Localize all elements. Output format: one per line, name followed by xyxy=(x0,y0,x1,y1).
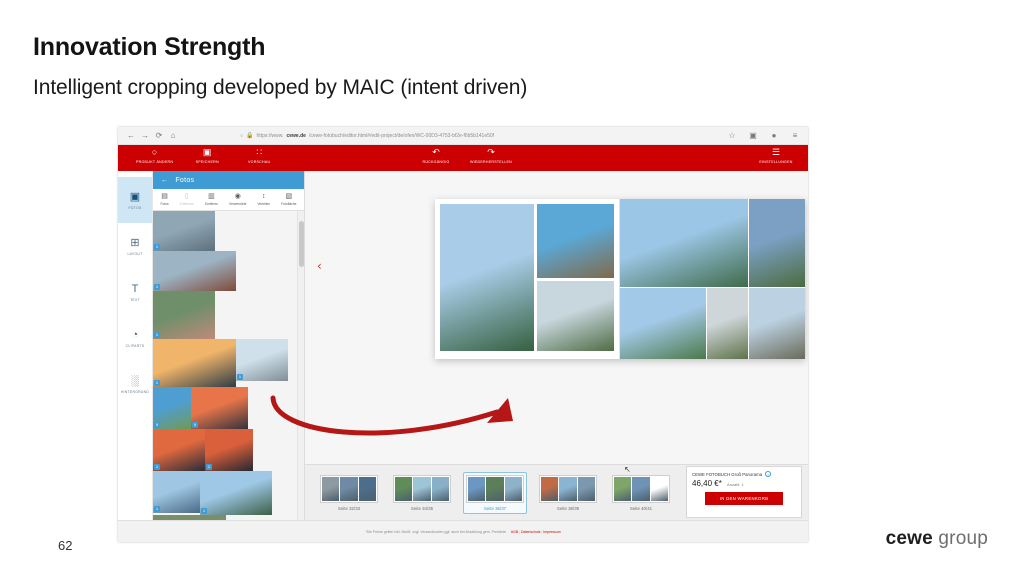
rail-item-text[interactable]: TTEXT xyxy=(118,269,152,315)
page-thumbnail-card[interactable]: Seite 32/33 xyxy=(317,472,381,514)
product-name-row: CEWE FOTOBUCH Groß Panorama i xyxy=(692,471,796,477)
book-photo-ibex-rock[interactable] xyxy=(749,288,805,359)
page-subtitle: Intelligent cropping developed by MAIC (… xyxy=(33,76,527,100)
book-photo-donkey-lake[interactable] xyxy=(537,204,614,278)
profile-icon[interactable]: ● xyxy=(767,132,781,140)
photo-use-badge: 9 xyxy=(154,422,160,428)
bookmark-star-icon[interactable]: ☆ xyxy=(725,132,739,140)
chrome-right-actions: ☆ ▣ ● ≡ xyxy=(725,132,802,140)
address-bar[interactable]: ○ 🔒 https://www.cewe.de/cewe-fotobuch/ed… xyxy=(240,130,719,142)
toolbar-label-save: Speichern xyxy=(196,160,219,164)
page-thumbnail-card[interactable]: Seite 38/39 xyxy=(536,472,600,514)
photo-tab-label-fotos: Fotos xyxy=(160,202,168,206)
rail-label-cliparts: CLIPARTS xyxy=(126,344,145,348)
photo-use-badge: 1 xyxy=(154,464,160,470)
verteilen-icon: ↕ xyxy=(262,193,266,201)
footnote-link-impressum[interactable]: Impressum xyxy=(543,530,560,534)
photo-tab-label-verwendete: Verwendete xyxy=(229,202,246,206)
page-thumbnail-label: Seite 34/35 xyxy=(393,506,451,511)
mouse-cursor: ↖ xyxy=(624,465,631,474)
photo-thumbnail[interactable]: 1 xyxy=(153,429,205,471)
page-thumbnail-label: Seite 36/37 xyxy=(466,506,524,511)
page-thumbnail-card[interactable]: Seite 36/37 xyxy=(463,472,527,514)
text-icon: T xyxy=(132,283,139,295)
layout-icon: ⊞ xyxy=(130,237,139,249)
shield-icon: ○ xyxy=(240,133,243,139)
page-thumbnail-cell xyxy=(322,477,339,501)
book-spread[interactable] xyxy=(435,199,805,359)
footnote-text: *Die Preise gelten inkl. MwSt. zzgl. Ver… xyxy=(365,530,506,534)
page-thumbnail-cell xyxy=(340,477,357,501)
photo-panel-header: ← Fotos xyxy=(153,171,304,189)
page-thumbnail-cell xyxy=(651,477,668,501)
photo-tab-verteilen[interactable]: ↕Verteilen xyxy=(257,193,270,206)
browser-menu-icon[interactable]: ≡ xyxy=(788,132,802,140)
url-prefix: https://www. xyxy=(257,133,284,139)
book-photo-panorama-valley[interactable] xyxy=(620,199,748,287)
rail-label-hintergrund: HINTERGRUND xyxy=(121,390,149,394)
fotos-icon: ▣ xyxy=(130,191,140,203)
photo-tab-entfernen: ▯Entfernen xyxy=(180,193,194,206)
photo-thumbnail[interactable]: 1 xyxy=(153,471,200,513)
editor-body: ▣FOTOS⊞LAYOUTTTEXT◔CLIPARTS░HINTERGRUND … xyxy=(118,171,808,542)
entfernen-icon: ▯ xyxy=(185,193,189,201)
book-photo-mountain-valley[interactable] xyxy=(440,204,534,351)
toolbar-right-group: ☰Einstellungen xyxy=(758,147,794,164)
product-quantity: Anzahl: 1 xyxy=(727,482,744,487)
rail-item-hintergrund[interactable]: ░HINTERGRUND xyxy=(118,361,152,407)
info-icon[interactable]: i xyxy=(765,471,771,477)
toolbar-button-preview[interactable]: ∷Vorschau xyxy=(241,147,277,164)
toolbar-button-save[interactable]: ▣Speichern xyxy=(189,147,225,164)
toolbar-label-preview: Vorschau xyxy=(248,160,270,164)
page-thumbnail-cell xyxy=(559,477,576,501)
photo-thumbnail[interactable]: 1 xyxy=(153,211,215,251)
redo-icon: ↷ xyxy=(487,147,495,158)
photo-thumbnail[interactable]: 1 xyxy=(205,429,253,471)
url-suffix: /cewe-fotobuch/editor.html#/edit-project… xyxy=(309,133,494,139)
photo-tab-sortieren[interactable]: ▥Sortieren xyxy=(205,193,218,206)
page-title: Innovation Strength xyxy=(33,33,265,62)
undo-icon: ↶ xyxy=(432,147,440,158)
product-price: 46,40 €* xyxy=(692,479,722,488)
verwendete-icon: ◉ xyxy=(235,193,241,201)
photo-use-badge: 9 xyxy=(192,422,198,428)
rail-label-text: TEXT xyxy=(130,298,140,302)
forward-icon[interactable]: → xyxy=(138,132,152,140)
page-thumbnail-card[interactable]: Seite 40/41 xyxy=(609,472,673,514)
rail-item-layout[interactable]: ⊞LAYOUT xyxy=(118,223,152,269)
photo-thumbnail[interactable]: 1 xyxy=(153,291,215,339)
rail-label-layout: LAYOUT xyxy=(127,252,142,256)
toolbar-button-change-product[interactable]: ○Produkt ändern xyxy=(136,147,173,164)
product-summary-box: CEWE FOTOBUCH Groß Panorama i 46,40 €* A… xyxy=(686,466,802,518)
logo-bold-text: cewe xyxy=(886,528,933,549)
product-name: CEWE FOTOBUCH Groß Panorama xyxy=(692,472,762,477)
sortieren-icon: ▥ xyxy=(208,193,215,201)
page-thumbnail-cell xyxy=(505,477,522,501)
toolbar-middle-group: ↶Rückgängig↷Wiederherstellen xyxy=(418,147,512,164)
page-thumbnail-label: Seite 38/39 xyxy=(539,506,597,511)
page-thumbnail-cell xyxy=(432,477,449,501)
photo-use-badge: 1 xyxy=(201,508,207,514)
photo-panel-tabs: ▤Fotos▯Entfernen▥Sortieren◉Verwendete↕Ve… xyxy=(153,189,304,211)
cliparts-icon: ◔ xyxy=(132,329,139,341)
page-thumbnail-cell xyxy=(395,477,412,501)
back-icon[interactable]: ← xyxy=(124,132,138,140)
fotos-icon: ▤ xyxy=(161,193,168,201)
preview-icon: ∷ xyxy=(256,147,262,158)
photo-tab-label-sortieren: Sortieren xyxy=(205,202,218,206)
slide-number: 62 xyxy=(58,538,72,553)
photo-thumbnail[interactable]: 1 xyxy=(200,471,272,515)
photo-thumbnail[interactable]: 1 xyxy=(236,339,288,381)
photo-use-badge: 1 xyxy=(154,332,160,338)
toolbar-label-redo: Wiederherstellen xyxy=(470,160,512,164)
toolbar-label-change-product: Produkt ändern xyxy=(136,160,173,164)
url-domain: cewe.de xyxy=(286,133,305,139)
rail-item-fotos[interactable]: ▣FOTOS xyxy=(118,177,152,223)
book-photo-chalet-meadow[interactable] xyxy=(537,281,614,351)
toolbar-left-group: ○Produkt ändern▣Speichern∷Vorschau xyxy=(136,147,277,164)
book-page-right[interactable] xyxy=(620,199,805,359)
photo-tab-label-verteilen: Verteilen xyxy=(257,202,270,206)
book-canvas: ‹ › xyxy=(305,171,808,464)
photo-use-badge: 1 xyxy=(154,506,160,512)
photo-tab-label-fotoflche: Fotofläche xyxy=(281,202,296,206)
reload-icon[interactable]: ⟳ xyxy=(152,132,166,140)
photo-use-badge: 1 xyxy=(237,374,243,380)
photo-panel: ← Fotos ▤Fotos▯Entfernen▥Sortieren◉Verwe… xyxy=(153,171,305,520)
photo-thumbnail[interactable]: 1 xyxy=(153,339,236,387)
photo-panel-scrollbar[interactable] xyxy=(297,211,304,520)
product-price-row: 46,40 €* Anzahl: 1 xyxy=(692,479,796,488)
page-thumbnail-card[interactable]: Seite 34/35 xyxy=(390,472,454,514)
page-thumbnail-preview xyxy=(320,475,378,503)
page-thumbnail-preview xyxy=(466,475,524,503)
rail-item-cliparts[interactable]: ◔CLIPARTS xyxy=(118,315,152,361)
lock-icon: 🔒 xyxy=(246,132,253,139)
browser-chrome: ← → ⟳ ⌂ ○ 🔒 https://www.cewe.de/cewe-fot… xyxy=(118,127,808,145)
photo-use-badge: 1 xyxy=(154,380,160,386)
book-photo-rocky-path[interactable] xyxy=(707,288,748,359)
toolbar-button-undo[interactable]: ↶Rückgängig xyxy=(418,147,454,164)
page-thumbnail-cell xyxy=(614,477,631,501)
toolbar-label-settings: Einstellungen xyxy=(759,160,792,164)
page-thumbnail-preview xyxy=(612,475,670,503)
footnote-link-datenschutz[interactable]: Datenschutz xyxy=(521,530,540,534)
photo-thumbnail[interactable]: 9 xyxy=(153,387,191,429)
photo-panel-title: Fotos xyxy=(175,177,194,184)
save-icon: ▣ xyxy=(203,147,212,158)
previous-page-arrow[interactable]: ‹ xyxy=(317,259,322,273)
photo-thumbnail-grid: 11111991111111191 xyxy=(153,211,297,520)
toolbar-button-settings[interactable]: ☰Einstellungen xyxy=(758,147,794,164)
toolbar-label-undo: Rückgängig xyxy=(422,160,449,164)
photo-tab-verwendete[interactable]: ◉Verwendete xyxy=(229,193,246,206)
page-thumbnail-cell xyxy=(578,477,595,501)
footnote-links: AGB | Datenschutz | Impressum xyxy=(511,530,561,534)
cewe-group-logo: cewe group xyxy=(886,528,988,550)
photo-use-badge: 1 xyxy=(154,284,160,290)
page-thumbnail-preview xyxy=(539,475,597,503)
photo-tab-fotoflche[interactable]: ▧Fotofläche xyxy=(281,193,296,206)
photo-thumbnail[interactable]: 1 xyxy=(153,251,236,291)
photo-tab-fotos[interactable]: ▤Fotos xyxy=(160,193,168,206)
back-arrow-icon[interactable]: ← xyxy=(161,177,168,184)
page-thumbnail-preview xyxy=(393,475,451,503)
browser-screenshot: ← → ⟳ ⌂ ○ 🔒 https://www.cewe.de/cewe-fot… xyxy=(118,127,808,542)
page-thumbnail-cell xyxy=(632,477,649,501)
scrollbar-knob[interactable] xyxy=(299,221,304,267)
photo-thumbnail[interactable]: 9 xyxy=(191,387,248,429)
photo-use-badge: 1 xyxy=(154,244,160,250)
book-page-left[interactable] xyxy=(435,199,620,359)
logo-light-text: group xyxy=(933,528,988,549)
rail-label-fotos: FOTOS xyxy=(128,206,141,210)
photo-use-badge: 1 xyxy=(206,464,212,470)
page-thumbnail-cell xyxy=(541,477,558,501)
page-thumbnail-label: Seite 40/41 xyxy=(612,506,670,511)
fotoflche-icon: ▧ xyxy=(285,193,292,201)
book-photo-rocky-ridge[interactable] xyxy=(749,199,805,287)
settings-icon: ☰ xyxy=(772,147,780,158)
book-photo-blue-mountain[interactable] xyxy=(620,288,706,359)
home-icon[interactable]: ⌂ xyxy=(166,132,180,140)
change-product-icon: ○ xyxy=(152,147,157,158)
legal-footnote: *Die Preise gelten inkl. MwSt. zzgl. Ver… xyxy=(118,520,808,542)
page-thumbnail-cell xyxy=(468,477,485,501)
extensions-icon[interactable]: ▣ xyxy=(746,132,760,140)
page-thumbnail-cell xyxy=(413,477,430,501)
editor-sidebar-rail: ▣FOTOS⊞LAYOUTTTEXT◔CLIPARTS░HINTERGRUND xyxy=(118,171,153,520)
toolbar-button-redo[interactable]: ↷Wiederherstellen xyxy=(470,147,512,164)
add-to-cart-button[interactable]: IN DEN WARENKORB xyxy=(705,492,783,505)
page-thumbnail-label: Seite 32/33 xyxy=(320,506,378,511)
page-thumbnail-cell xyxy=(486,477,503,501)
photo-tab-label-entfernen: Entfernen xyxy=(180,202,194,206)
hintergrund-icon: ░ xyxy=(131,375,139,387)
page-thumbnail-cell xyxy=(359,477,376,501)
app-toolbar: ○Produkt ändern▣Speichern∷Vorschau ↶Rück… xyxy=(118,145,808,171)
